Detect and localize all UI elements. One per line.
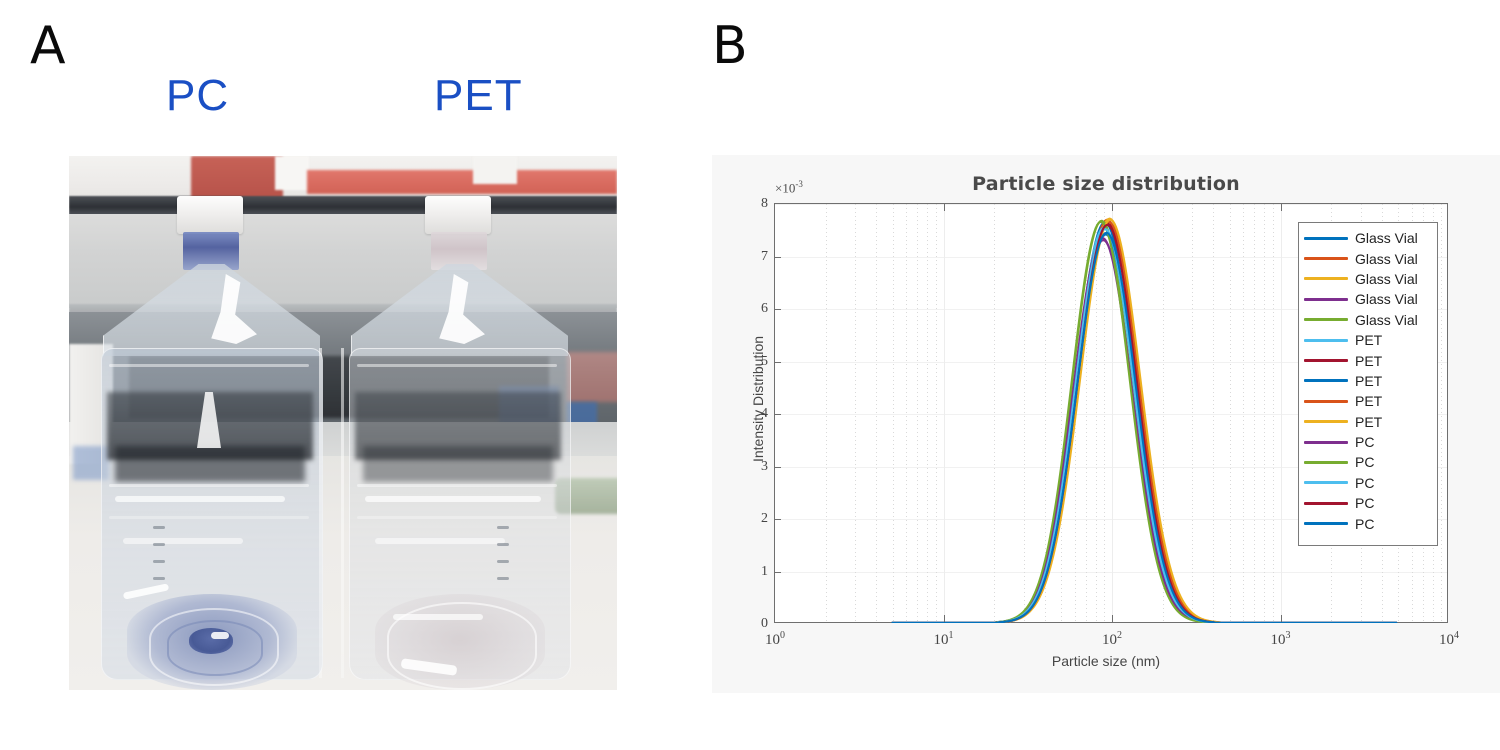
legend-item[interactable]: PC: [1304, 473, 1431, 493]
y-axis-tick-label: 3: [761, 459, 768, 475]
bottle-pet-highlight-bar: [375, 538, 505, 544]
bottle-pc-ridge: [109, 484, 309, 487]
legend-item[interactable]: PC: [1304, 452, 1431, 472]
legend-label: PET: [1355, 332, 1382, 348]
x-axis-tick-mark-top: [944, 204, 945, 211]
bottle-pet-ridge: [357, 364, 557, 367]
y-axis-multiplier-base: ×10: [775, 180, 795, 195]
x-axis-tick-mark: [1112, 615, 1113, 622]
panel-a-letter: A: [30, 20, 66, 72]
y-axis-tick-label: 8: [761, 196, 768, 212]
legend-color-swatch: [1304, 400, 1348, 403]
bottle-pc-ridge: [109, 364, 309, 367]
legend-item[interactable]: PET: [1304, 330, 1431, 350]
y-axis-tick-mark: [775, 572, 781, 573]
y-axis-tick-mark: [775, 519, 781, 520]
y-axis-tick-mark: [775, 362, 781, 363]
y-axis-tick-label: 5: [761, 354, 768, 370]
y-axis-multiplier-exponent: -3: [795, 179, 803, 189]
legend-item[interactable]: PET: [1304, 350, 1431, 370]
bottle-pc: [93, 196, 345, 690]
bottle-pet-ridge: [357, 484, 557, 487]
legend-color-swatch: [1304, 420, 1348, 423]
legend-item[interactable]: PET: [1304, 412, 1431, 432]
material-label-pet: PET: [434, 74, 523, 118]
legend-color-swatch: [1304, 359, 1348, 362]
x-axis-tick-mark-top: [1281, 204, 1282, 211]
legend-color-swatch: [1304, 379, 1348, 382]
legend-color-swatch: [1304, 481, 1348, 484]
legend-label: PC: [1355, 495, 1374, 511]
panel-b-letter: B: [712, 20, 748, 72]
x-axis-label: Particle size (nm): [712, 653, 1500, 669]
y-axis-tick-label: 1: [761, 564, 768, 580]
legend-item[interactable]: Glass Vial: [1304, 289, 1431, 309]
y-axis-tick-label: 6: [761, 301, 768, 317]
legend-label: PC: [1355, 434, 1374, 450]
bottle-pet-cap: [425, 196, 491, 234]
legend-label: Glass Vial: [1355, 291, 1418, 307]
legend-label: PET: [1355, 353, 1382, 369]
y-axis-multiplier: ×10-3: [775, 179, 803, 196]
legend-color-swatch: [1304, 441, 1348, 444]
legend-label: PET: [1355, 393, 1382, 409]
bottle-pc-cap: [177, 196, 243, 234]
x-axis-tick-label: 104: [1439, 630, 1459, 649]
legend-item[interactable]: Glass Vial: [1304, 248, 1431, 268]
panel-a: A PC PET: [0, 0, 700, 750]
x-axis-tick-mark-top: [1112, 204, 1113, 211]
legend-label: PC: [1355, 516, 1374, 532]
x-axis-tick-label: 101: [934, 630, 954, 649]
y-axis-tick-mark: [775, 467, 781, 468]
x-axis-tick-mark: [1281, 615, 1282, 622]
bottle-photograph: [69, 156, 617, 690]
y-axis-tick-label: 2: [761, 511, 768, 527]
photo-bg-white-card: [275, 156, 309, 190]
y-axis-tick-mark: [775, 257, 781, 258]
legend-item[interactable]: PC: [1304, 513, 1431, 533]
legend-label: Glass Vial: [1355, 230, 1418, 246]
bottle-pet-graduations: [497, 526, 511, 598]
bottle-pc-highlight-bar: [123, 538, 243, 544]
legend-item[interactable]: Glass Vial: [1304, 269, 1431, 289]
x-axis-tick-mark: [944, 615, 945, 622]
y-axis-tick-mark: [775, 414, 781, 415]
legend-color-swatch: [1304, 339, 1348, 342]
bottle-pet-base-highlight: [393, 614, 483, 620]
legend-item[interactable]: PET: [1304, 391, 1431, 411]
y-axis-tick-label: 7: [761, 249, 768, 265]
bottle-pc-edge: [319, 348, 322, 678]
bottle-pc-ridge: [109, 516, 309, 519]
legend-item[interactable]: Glass Vial: [1304, 228, 1431, 248]
photo-bg-red-strip: [307, 170, 617, 194]
legend-item[interactable]: PC: [1304, 432, 1431, 452]
legend-label: Glass Vial: [1355, 312, 1418, 328]
legend-label: Glass Vial: [1355, 251, 1418, 267]
material-label-pc: PC: [166, 74, 229, 118]
legend-item[interactable]: PET: [1304, 371, 1431, 391]
bottle-pc-dark-reflection-2: [115, 446, 305, 482]
legend-label: Glass Vial: [1355, 271, 1418, 287]
legend-label: PC: [1355, 454, 1374, 470]
photo-bg-white-card-2: [473, 156, 517, 184]
bottle-pet-ridge: [357, 516, 557, 519]
y-axis-tick-label: 4: [761, 406, 768, 422]
legend-label: PET: [1355, 373, 1382, 389]
bottle-pet-highlight-bar: [365, 496, 541, 502]
legend-color-swatch: [1304, 277, 1348, 280]
bottle-pet-edge: [341, 348, 344, 678]
x-axis-tick-label: 102: [1102, 630, 1122, 649]
legend-color-swatch: [1304, 502, 1348, 505]
legend-label: PET: [1355, 414, 1382, 430]
bottle-pet: [341, 196, 593, 690]
legend-item[interactable]: Glass Vial: [1304, 310, 1431, 330]
y-axis-label: Intensity Distribution: [750, 289, 766, 509]
y-axis-tick-mark: [775, 309, 781, 310]
x-axis-tick-label: 100: [765, 630, 785, 649]
bottle-pc-base-highlight: [211, 632, 229, 639]
photo-bg-red-box: [191, 156, 283, 200]
chart-title: Particle size distribution: [712, 173, 1500, 195]
bottle-pc-highlight-bar: [115, 496, 285, 502]
x-axis-tick-label: 103: [1271, 630, 1291, 649]
bottle-pet-dark-reflection-2: [363, 446, 553, 482]
legend-color-swatch: [1304, 318, 1348, 321]
legend-color-swatch: [1304, 298, 1348, 301]
legend-item[interactable]: PC: [1304, 493, 1431, 513]
legend-color-swatch: [1304, 237, 1348, 240]
legend-color-swatch: [1304, 461, 1348, 464]
legend-label: PC: [1355, 475, 1374, 491]
chart-legend[interactable]: Glass VialGlass VialGlass VialGlass Vial…: [1298, 222, 1438, 546]
bottle-pc-shoulder: [103, 264, 320, 356]
legend-color-swatch: [1304, 257, 1348, 260]
legend-color-swatch: [1304, 522, 1348, 525]
